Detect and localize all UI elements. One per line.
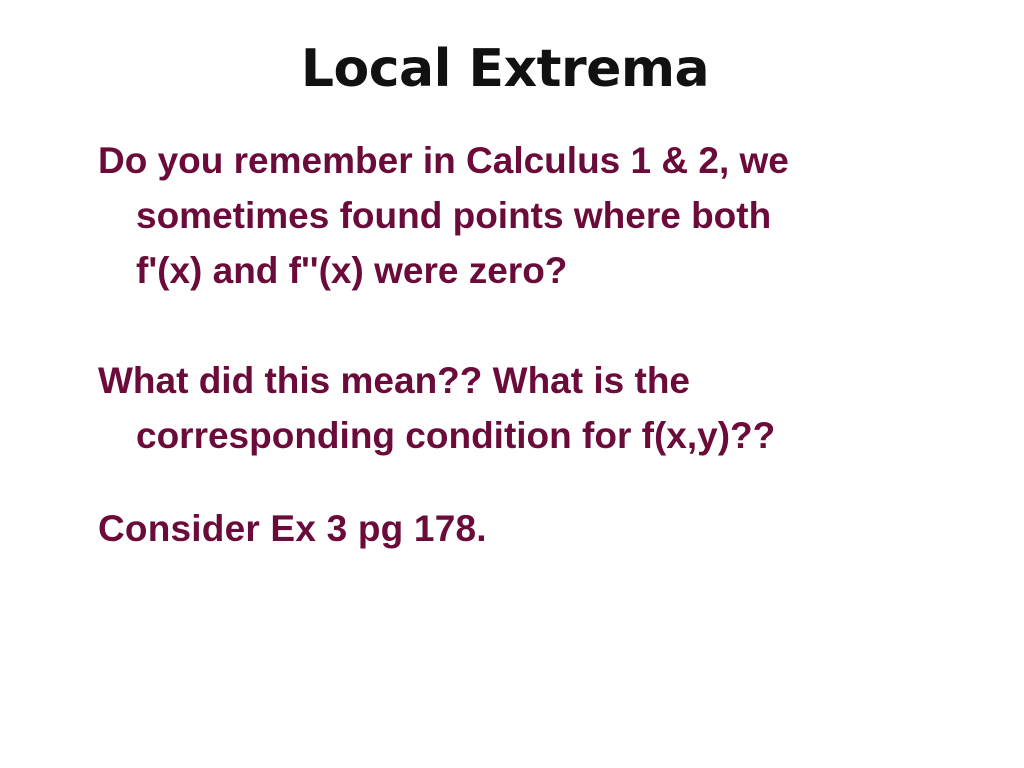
paragraph-consider: Consider Ex 3 pg 178. — [98, 501, 978, 556]
page-title: Local Extrema — [0, 42, 1010, 97]
slide-body: Do you remember in Calculus 1 & 2, we so… — [98, 133, 978, 556]
paragraph-spacer-1 — [98, 298, 978, 353]
paragraph-meaning-line-1: What did this mean?? What is the — [136, 353, 978, 408]
paragraph-what-did-this-mean: What did this mean?? What is the corresp… — [98, 353, 978, 463]
paragraph-remember-line-2: sometimes found points where both — [136, 188, 978, 243]
paragraph-spacer-2 — [98, 463, 978, 501]
paragraph-remember-line-1: Do you remember in Calculus 1 & 2, we — [136, 133, 978, 188]
slide-canvas: Local Extrema Do you remember in Calculu… — [0, 0, 1024, 768]
paragraph-meaning-line-2: corresponding condition for f(x,y)?? — [136, 408, 978, 463]
paragraph-consider-line-1: Consider Ex 3 pg 178. — [136, 501, 978, 556]
paragraph-remember-line-3: f'(x) and f''(x) were zero? — [136, 243, 978, 298]
paragraph-remember: Do you remember in Calculus 1 & 2, we so… — [98, 133, 978, 298]
